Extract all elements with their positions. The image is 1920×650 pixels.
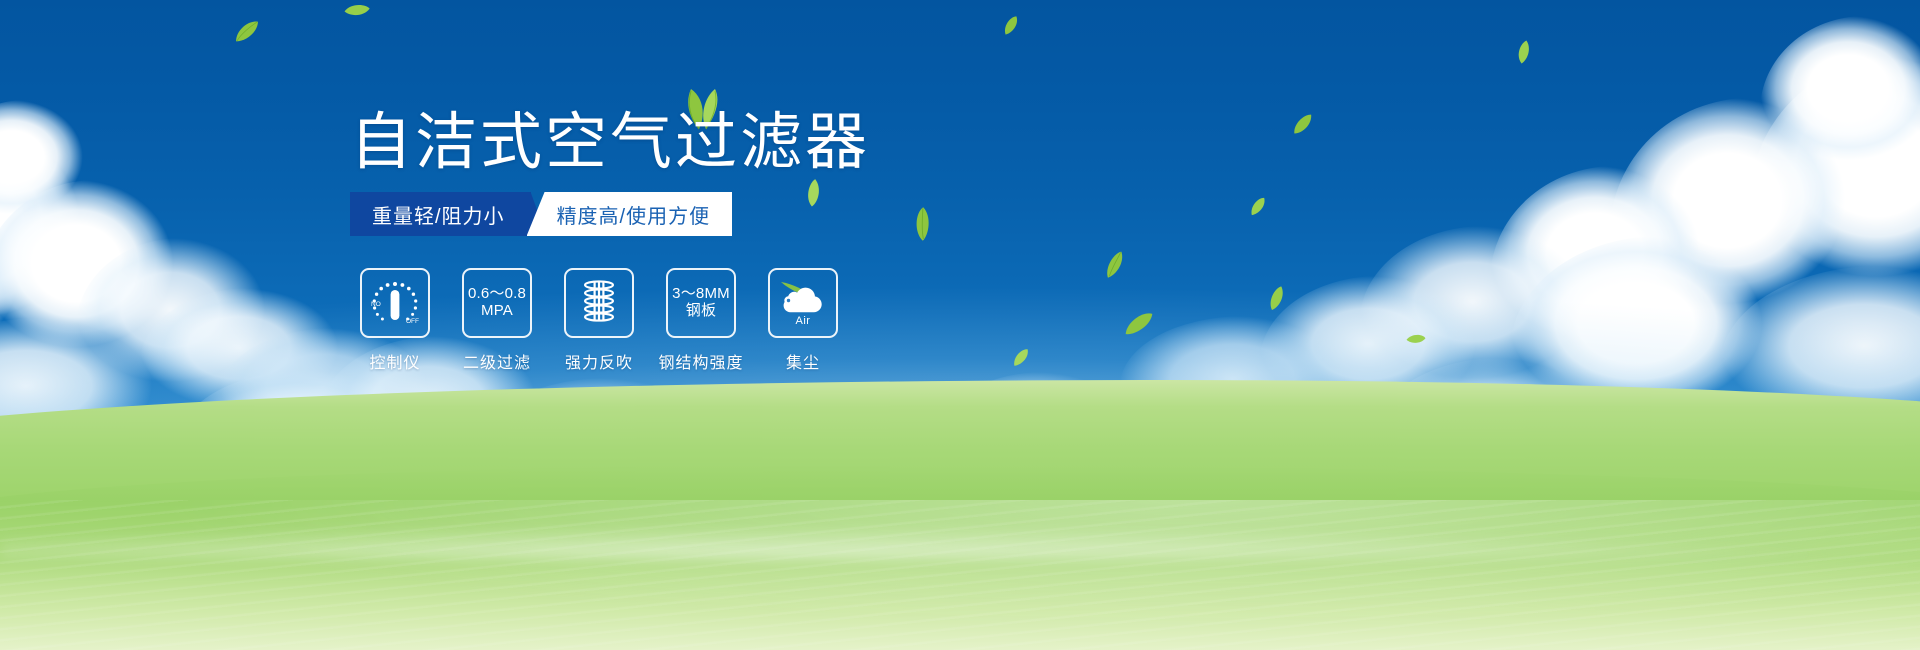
tagline-left: 重量轻/阻力小: [350, 192, 531, 236]
feature-box-line1: 0.6～0.8: [468, 286, 526, 303]
feature-icon-box: [564, 268, 634, 338]
feature-label: 集尘: [786, 349, 820, 373]
banner-stage: 自洁式空气过滤器 重量轻/阻力小 精度高/使用方便: [0, 0, 1920, 650]
feature-item[interactable]: Air 集尘: [766, 268, 840, 373]
blowback-icon: [576, 278, 622, 328]
feature-box-line2: MPA: [481, 303, 513, 320]
banner-content: 自洁式空气过滤器 重量轻/阻力小 精度高/使用方便: [0, 0, 1920, 650]
feature-icon-box: NO OFF: [360, 268, 430, 338]
feature-box-line2: Air: [796, 315, 811, 327]
tagline-left-text: 重量轻/阻力小: [372, 200, 505, 229]
feature-box-line2: 钢板: [686, 303, 716, 320]
feature-item[interactable]: NO OFF 控制仪: [358, 268, 432, 373]
page-title: 自洁式空气过滤器: [350, 112, 870, 174]
tagline-banner: 重量轻/阻力小 精度高/使用方便: [350, 192, 732, 236]
feature-label: 钢结构强度: [659, 349, 744, 373]
feature-box-line1: 3～8MM: [672, 286, 730, 303]
gauge-icon: NO OFF: [368, 278, 422, 328]
feature-label: 二级过滤: [463, 349, 531, 373]
feature-icon-box: Air: [768, 268, 838, 338]
feature-label: 控制仪: [369, 349, 420, 373]
gauge-right-label: OFF: [406, 318, 419, 325]
feature-icon-box: 3～8MM 钢板: [666, 268, 736, 338]
tagline-right: 精度高/使用方便: [527, 192, 733, 236]
cloud-air-icon: [775, 278, 831, 318]
feature-item[interactable]: 强力反吹: [562, 268, 636, 373]
tagline-right-text: 精度高/使用方便: [557, 200, 711, 229]
feature-list: NO OFF 控制仪 0.6～0.8 MPA 二级过滤: [358, 268, 840, 373]
feature-item[interactable]: 3～8MM 钢板 钢结构强度: [664, 268, 738, 373]
gauge-left-label: NO: [371, 301, 381, 308]
feature-label: 强力反吹: [565, 349, 633, 373]
feature-item[interactable]: 0.6～0.8 MPA 二级过滤: [460, 268, 534, 373]
feature-icon-box: 0.6～0.8 MPA: [462, 268, 532, 338]
